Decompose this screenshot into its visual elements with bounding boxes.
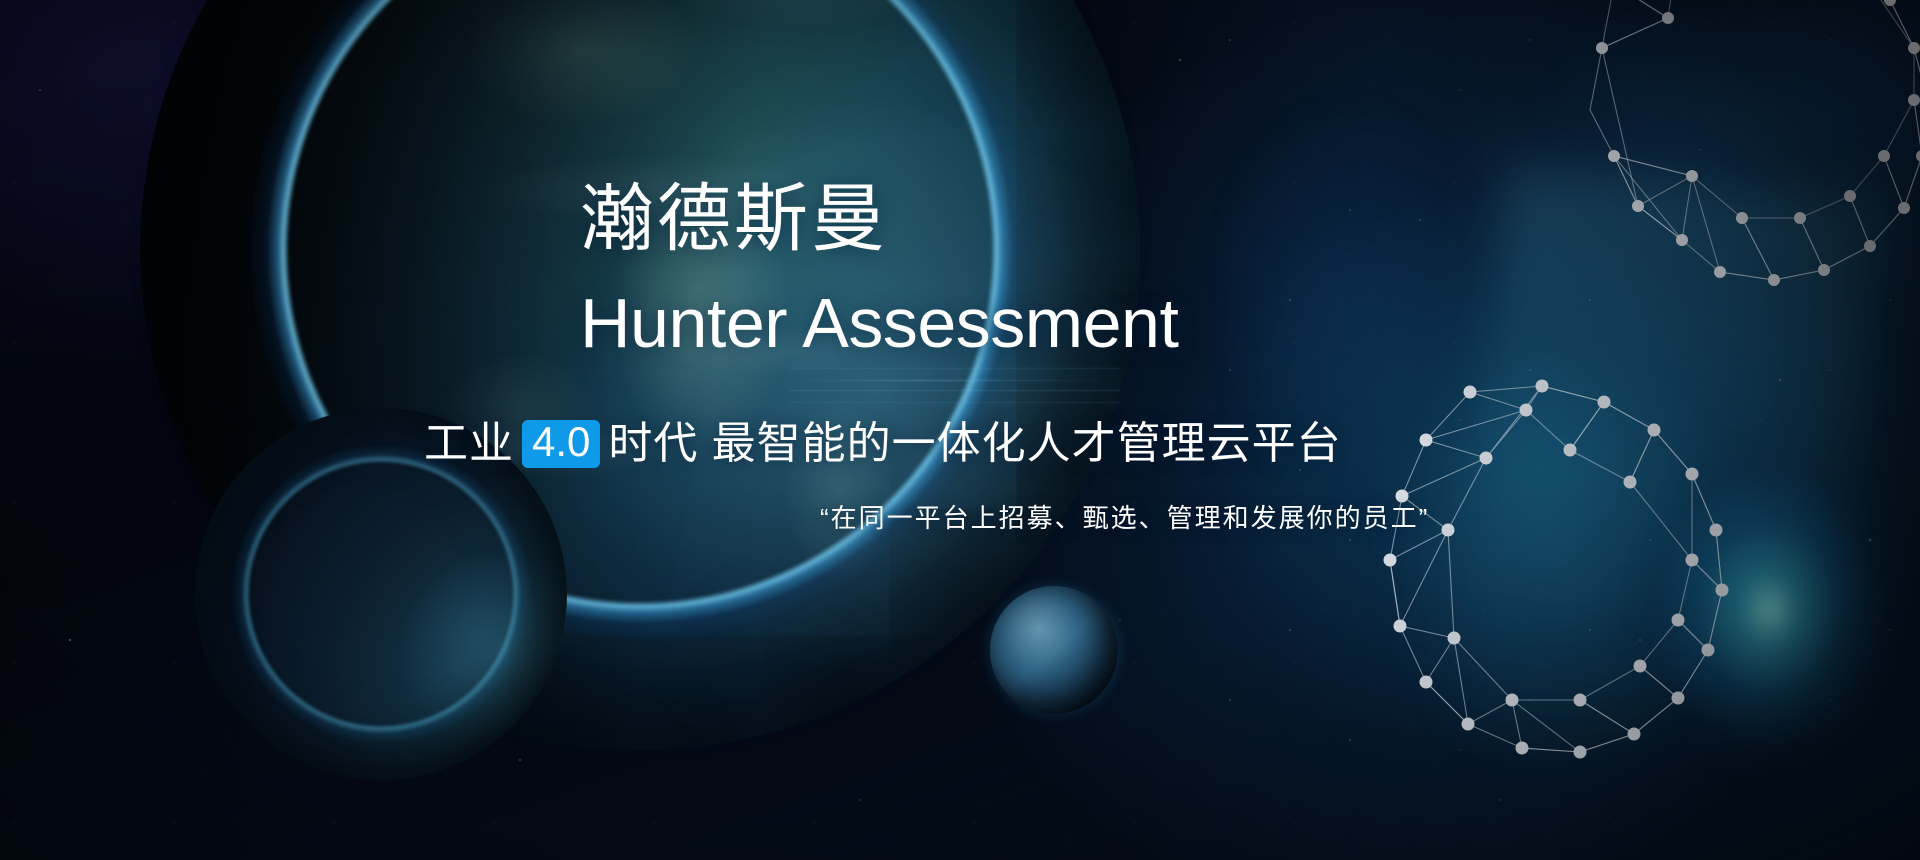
tagline-quote: “在同一平台上招募、甄选、管理和发展你的员工” — [820, 505, 1429, 531]
tagline-prefix: 工业 — [424, 422, 514, 466]
hero-text-block: 瀚德斯曼 Hunter Assessment 工业 4.0 时代 最智能的一体化… — [0, 0, 1920, 860]
hero-banner: 瀚德斯曼 Hunter Assessment 工业 4.0 时代 最智能的一体化… — [0, 0, 1920, 860]
tagline-suffix: 时代 最智能的一体化人才管理云平台 — [608, 422, 1341, 466]
brand-title-chinese: 瀚德斯曼 — [580, 182, 888, 256]
industry-version-badge: 4.0 — [522, 420, 600, 468]
brand-title-english: Hunter Assessment — [580, 288, 1178, 358]
tagline: 工业 4.0 时代 最智能的一体化人才管理云平台 — [424, 420, 1342, 468]
